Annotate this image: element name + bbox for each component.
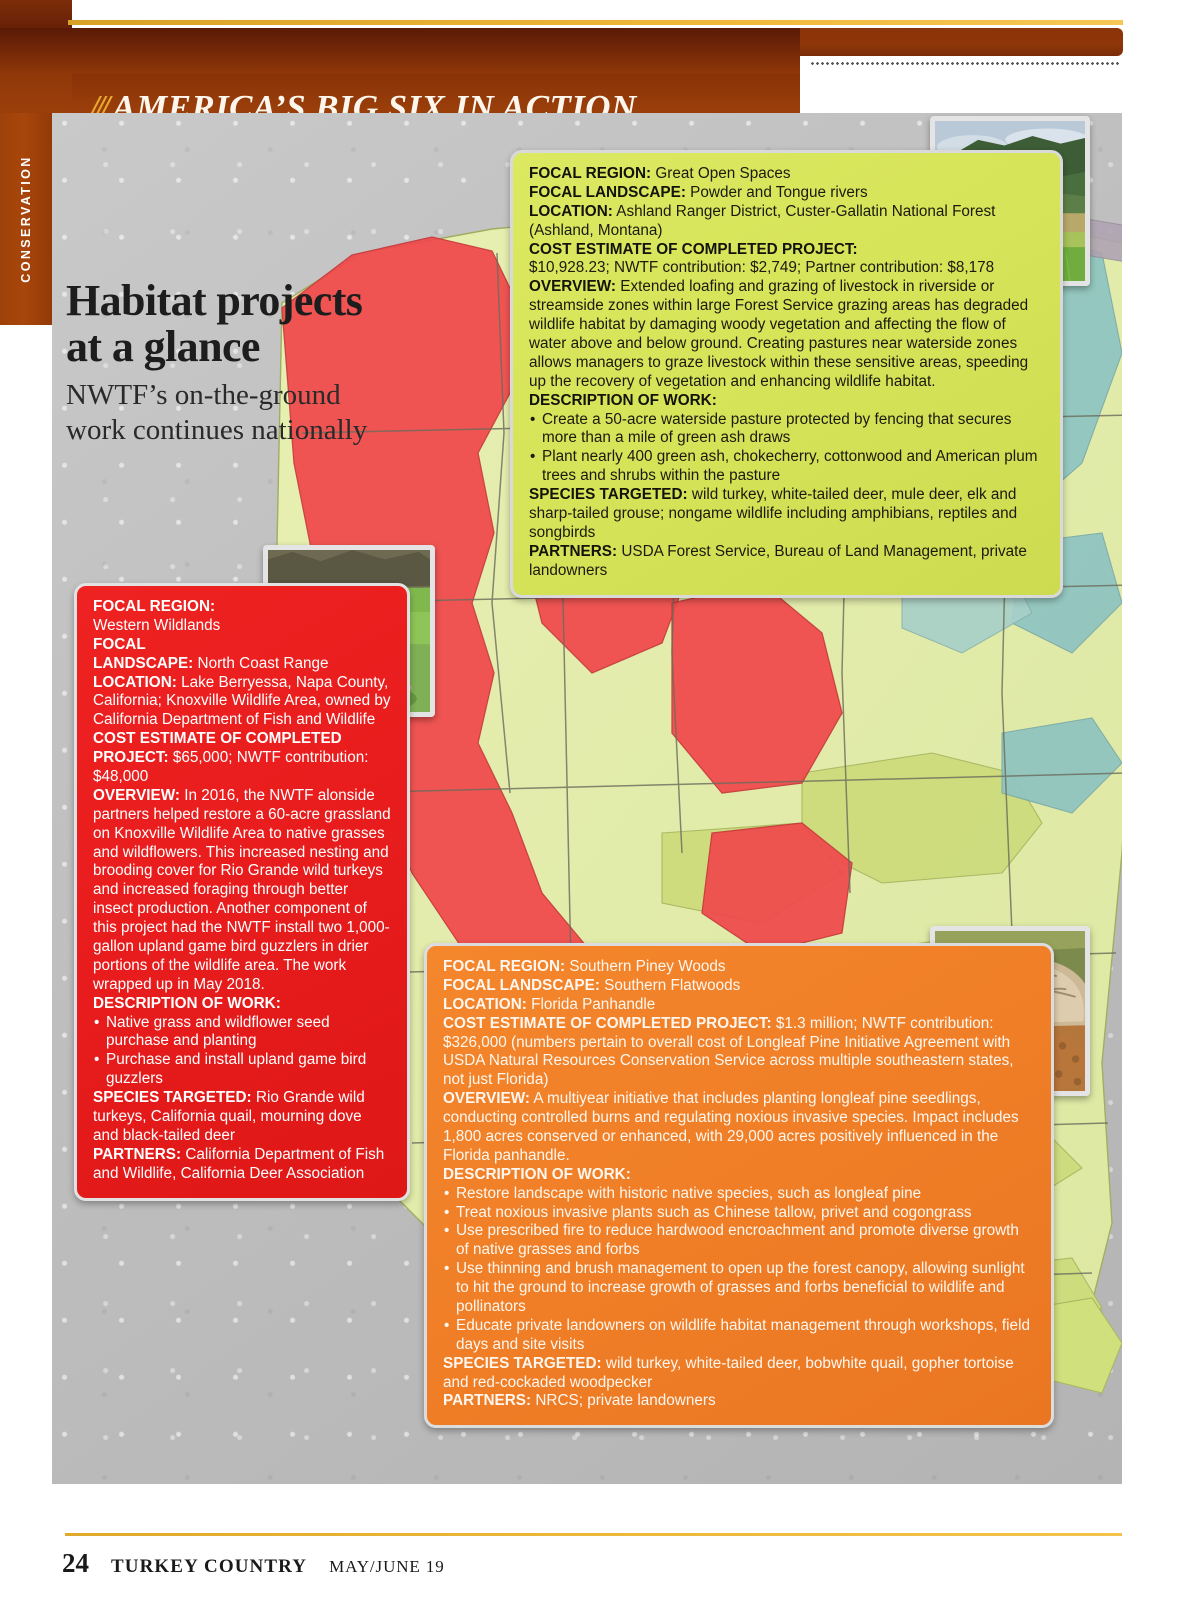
- label-overview: OVERVIEW:: [529, 278, 616, 295]
- label-focal: FOCAL: [93, 636, 146, 653]
- label-description-of-work: DESCRIPTION OF WORK:: [443, 1166, 631, 1183]
- label-partners: PARTNERS:: [93, 1146, 181, 1163]
- red-overview: OVERVIEW: In 2016, the NWTF alonside par…: [93, 787, 391, 995]
- orange-location: LOCATION: Florida Panhandle: [443, 996, 1035, 1015]
- section-tab-label: CONSERVATION: [19, 155, 33, 282]
- green-focal-region: FOCAL REGION: Great Open Spaces: [529, 165, 1044, 184]
- label-focal-landscape: FOCAL LANDSCAPE:: [529, 184, 686, 201]
- orange-overview: OVERVIEW: A multiyear initiative that in…: [443, 1090, 1035, 1166]
- list-item: Native grass and wildflower seed purchas…: [93, 1014, 391, 1052]
- label-overview: OVERVIEW:: [93, 787, 180, 804]
- headline-deck: NWTF’s on-the-ground work continues nati…: [66, 378, 456, 450]
- orange-focal-landscape: FOCAL LANDSCAPE: Southern Flatwoods: [443, 977, 1035, 996]
- green-location: LOCATION: Ashland Ranger District, Custe…: [529, 203, 1044, 241]
- label-focal-region: FOCAL REGION:: [93, 598, 215, 615]
- label-species-targeted: SPECIES TARGETED:: [529, 486, 688, 503]
- orange-work-label: DESCRIPTION OF WORK:: [443, 1166, 1035, 1185]
- label-description-of-work: DESCRIPTION OF WORK:: [529, 392, 717, 409]
- label-description-of-work: DESCRIPTION OF WORK:: [93, 995, 281, 1012]
- red-focal-region-value: Western Wildlands: [93, 617, 391, 636]
- infobox-western-wildlands: FOCAL REGION: Western Wildlands FOCAL LA…: [74, 583, 410, 1201]
- label-landscape: LANDSCAPE:: [93, 655, 193, 672]
- list-item: Use prescribed fire to reduce hardwood e…: [443, 1222, 1035, 1260]
- red-focal-region-label: FOCAL REGION:: [93, 598, 391, 617]
- orange-partners-value: NRCS; private landowners: [531, 1392, 716, 1409]
- red-work-label: DESCRIPTION OF WORK:: [93, 995, 391, 1014]
- page-canvas: Habitat projects at a glance NWTF’s on-t…: [52, 113, 1122, 1484]
- list-item: Purchase and install upland game bird gu…: [93, 1051, 391, 1089]
- label-species-targeted: SPECIES TARGETED:: [443, 1355, 602, 1372]
- deck-line-1: NWTF’s on-the-ground: [66, 379, 341, 411]
- header-dotted-rule: [810, 62, 1120, 65]
- list-item: Plant nearly 400 green ash, chokecherry,…: [529, 448, 1044, 486]
- headline-line-1: Habitat projects: [66, 276, 362, 325]
- red-overview-value: In 2016, the NWTF alonside partners help…: [93, 787, 391, 993]
- headline-block: Habitat projects at a glance NWTF’s on-t…: [66, 278, 456, 449]
- green-overview: OVERVIEW: Extended loafing and grazing o…: [529, 278, 1044, 391]
- orange-species: SPECIES TARGETED: wild turkey, white-tai…: [443, 1355, 1035, 1393]
- header-gold-rule: [68, 20, 1123, 25]
- green-work-label: DESCRIPTION OF WORK:: [529, 392, 1044, 411]
- section-tab-conservation: CONSERVATION: [0, 113, 52, 325]
- green-cost-value: $10,928.23; NWTF contribution: $2,749; P…: [529, 259, 1044, 278]
- label-focal-landscape: FOCAL LANDSCAPE:: [443, 977, 600, 994]
- orange-overview-value: A multiyear initiative that includes pla…: [443, 1090, 1019, 1164]
- page-footer: 24 TURKEY COUNTRY MAY/JUNE 19: [62, 1548, 662, 1579]
- green-work-list: Create a 50-acre waterside pasture prote…: [529, 411, 1044, 487]
- red-cost-label: COST ESTIMATE OF COMPLETED: [93, 730, 391, 749]
- deck-line-2: work continues nationally: [66, 414, 367, 446]
- infobox-southern-piney-woods: FOCAL REGION: Southern Piney Woods FOCAL…: [424, 943, 1054, 1428]
- magazine-page: /// AMERICA’S BIG SIX IN ACTION CONSERVA…: [0, 0, 1200, 1613]
- label-cost-estimate: COST ESTIMATE OF COMPLETED PROJECT:: [443, 1015, 772, 1032]
- label-cost-estimate-line1: COST ESTIMATE OF COMPLETED: [93, 730, 342, 747]
- label-species-targeted: SPECIES TARGETED:: [93, 1089, 252, 1106]
- orange-cost: COST ESTIMATE OF COMPLETED PROJECT: $1.3…: [443, 1015, 1035, 1091]
- label-partners: PARTNERS:: [529, 543, 617, 560]
- orange-work-list: Restore landscape with historic native s…: [443, 1185, 1035, 1355]
- footer-issue-date: MAY/JUNE 19: [329, 1557, 445, 1577]
- label-focal-region: FOCAL REGION:: [443, 958, 565, 975]
- green-focal-landscape-value: Powder and Tongue rivers: [686, 184, 868, 201]
- red-species: SPECIES TARGETED: Rio Grande wild turkey…: [93, 1089, 391, 1146]
- label-project: PROJECT:: [93, 749, 169, 766]
- red-focal-word: FOCAL: [93, 636, 391, 655]
- header-title-block: /// AMERICA’S BIG SIX IN ACTION: [0, 28, 800, 113]
- red-location: LOCATION: Lake Berryessa, Napa County, C…: [93, 674, 391, 731]
- footer-page-number: 24: [62, 1548, 89, 1579]
- red-landscape-value: North Coast Range: [193, 655, 328, 672]
- red-partners: PARTNERS: California Department of Fish …: [93, 1146, 391, 1184]
- list-item: Restore landscape with historic native s…: [443, 1185, 1035, 1204]
- label-location: LOCATION:: [443, 996, 527, 1013]
- orange-location-value: Florida Panhandle: [527, 996, 655, 1013]
- red-work-list: Native grass and wildflower seed purchas…: [93, 1014, 391, 1090]
- green-cost-label: COST ESTIMATE OF COMPLETED PROJECT:: [529, 241, 1044, 260]
- green-focal-region-value: Great Open Spaces: [651, 165, 790, 182]
- red-landscape: LANDSCAPE: North Coast Range: [93, 655, 391, 674]
- green-species: SPECIES TARGETED: wild turkey, white-tai…: [529, 486, 1044, 543]
- headline: Habitat projects at a glance: [66, 278, 456, 370]
- green-partners: PARTNERS: USDA Forest Service, Bureau of…: [529, 543, 1044, 581]
- list-item: Use thinning and brush management to ope…: [443, 1260, 1035, 1317]
- footer-gold-rule: [65, 1533, 1122, 1536]
- label-partners: PARTNERS:: [443, 1392, 531, 1409]
- green-focal-landscape: FOCAL LANDSCAPE: Powder and Tongue river…: [529, 184, 1044, 203]
- orange-focal-landscape-value: Southern Flatwoods: [600, 977, 740, 994]
- list-item: Create a 50-acre waterside pasture prote…: [529, 411, 1044, 449]
- red-cost-value: PROJECT: $65,000; NWTF contribution: $48…: [93, 749, 391, 787]
- label-location: LOCATION:: [93, 674, 177, 691]
- infobox-great-open-spaces: FOCAL REGION: Great Open Spaces FOCAL LA…: [510, 150, 1063, 598]
- label-overview: OVERVIEW:: [443, 1090, 530, 1107]
- headline-line-2: at a glance: [66, 322, 260, 371]
- footer-magazine-name: TURKEY COUNTRY: [111, 1556, 307, 1578]
- list-item: Educate private landowners on wildlife h…: [443, 1317, 1035, 1355]
- orange-focal-region: FOCAL REGION: Southern Piney Woods: [443, 958, 1035, 977]
- list-item: Treat noxious invasive plants such as Ch…: [443, 1204, 1035, 1223]
- orange-focal-region-value: Southern Piney Woods: [565, 958, 725, 975]
- label-focal-region: FOCAL REGION:: [529, 165, 651, 182]
- label-cost-estimate: COST ESTIMATE OF COMPLETED PROJECT:: [529, 241, 858, 258]
- label-location: LOCATION:: [529, 203, 613, 220]
- orange-partners: PARTNERS: NRCS; private landowners: [443, 1392, 1035, 1411]
